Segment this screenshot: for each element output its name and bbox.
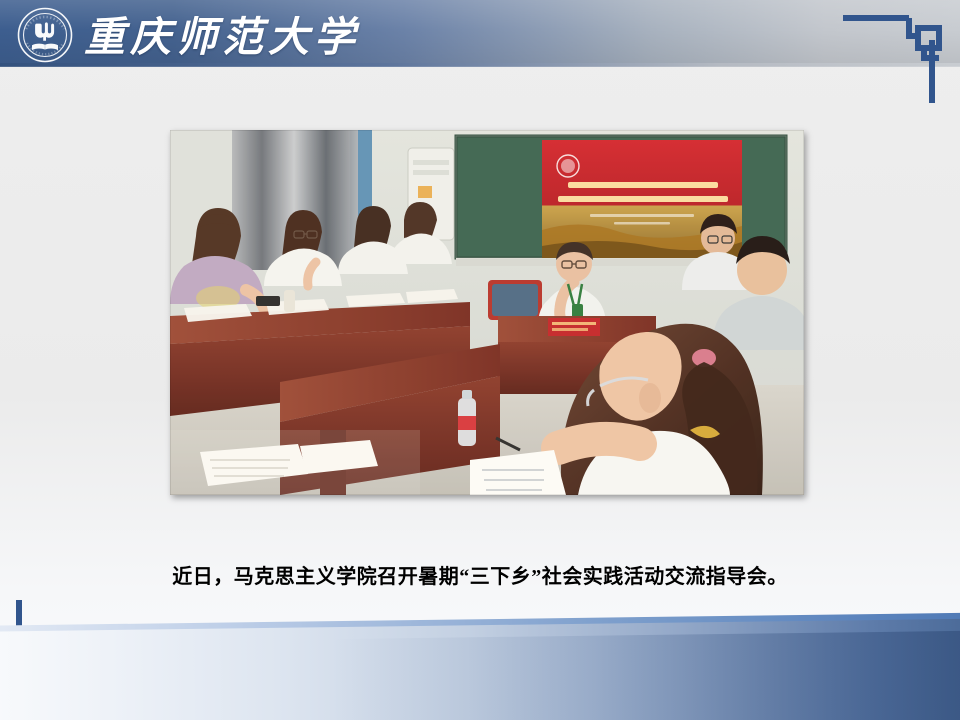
university-name-text: 重庆师范大学 bbox=[84, 3, 360, 63]
university-name-wordmark: 重庆师范大学 bbox=[84, 4, 360, 62]
header-bottom-rule bbox=[0, 63, 960, 67]
slide-footer-band bbox=[0, 610, 960, 720]
photo-caption-text: 近日，马克思主义学院召开暑期“三下乡”社会实践活动交流指导会。 bbox=[172, 566, 788, 588]
decorative-corner-bracket-top-right-icon bbox=[840, 6, 944, 106]
photo-caption: 近日，马克思主义学院召开暑期“三下乡”社会实践活动交流指导会。 bbox=[0, 560, 960, 589]
slide-canvas: 重庆师范大学 bbox=[0, 0, 960, 720]
university-seal-logo bbox=[17, 7, 73, 63]
meeting-photo bbox=[170, 130, 804, 495]
footer-shadow-overlay bbox=[0, 630, 960, 720]
